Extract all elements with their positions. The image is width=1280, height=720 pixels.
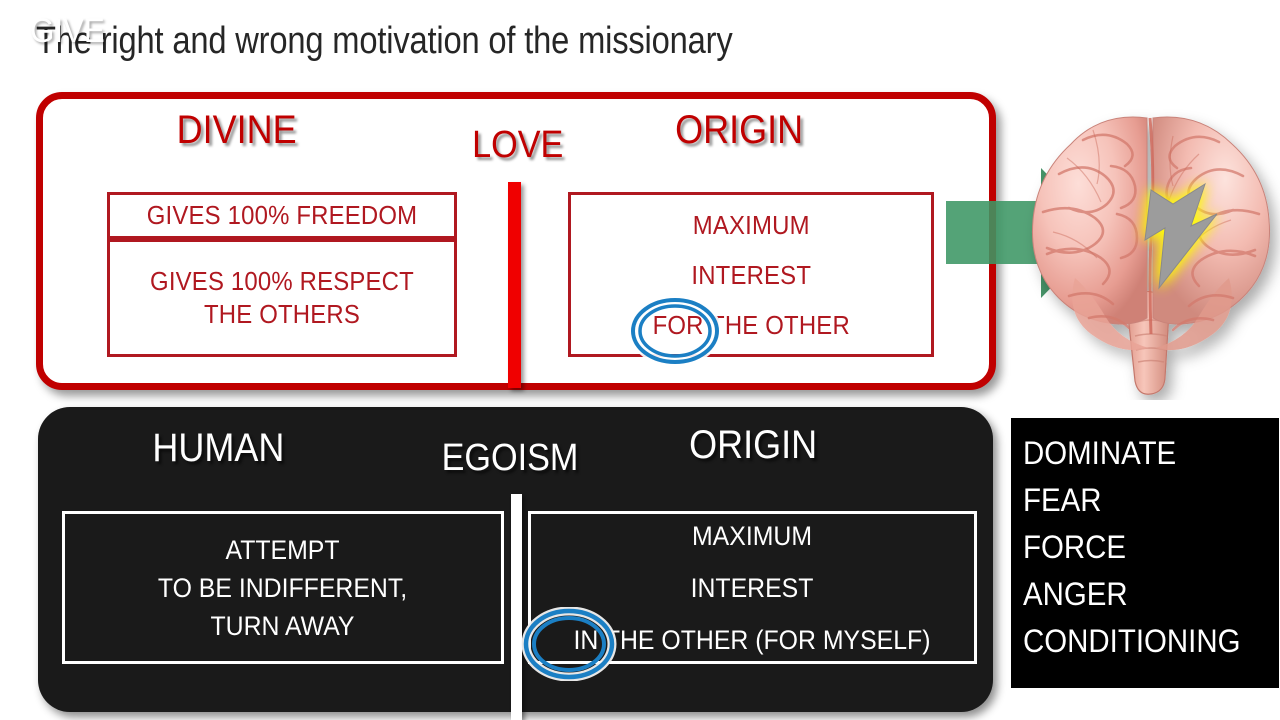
divine-box-freedom-label: GIVES 100% FREEDOM bbox=[147, 199, 418, 232]
list-item: DOMINATE bbox=[1023, 430, 1259, 477]
list-item: FORCE bbox=[1023, 524, 1259, 571]
divine-box-freedom: GIVES 100% FREEDOM bbox=[107, 192, 457, 239]
white-vertical-divider bbox=[511, 494, 522, 720]
human-box-maximum-text: MAXIMUM INTEREST IN THE OTHER (FOR MYSEL… bbox=[574, 510, 931, 666]
heading-origin-human: ORIGIN bbox=[689, 425, 817, 465]
heading-love: LOVE bbox=[472, 125, 563, 165]
human-right-line-1: MAXIMUM bbox=[692, 521, 812, 551]
page-title: The right and wrong motivation of the mi… bbox=[36, 18, 733, 64]
give-arrow-label: GIVE bbox=[30, 14, 105, 48]
human-right-line-3-rest: THE OTHER (FOR MYSELF) bbox=[605, 625, 931, 655]
divine-line-2: INTEREST bbox=[691, 260, 811, 290]
human-box-maximum-interest: MAXIMUM INTEREST IN THE OTHER (FOR MYSEL… bbox=[528, 511, 977, 664]
red-vertical-divider bbox=[508, 182, 521, 388]
divine-line-3-rest: THE OTHER bbox=[710, 310, 850, 340]
list-item: FEAR bbox=[1023, 477, 1259, 524]
divine-box-maximum-interest: MAXIMUM INTEREST FOR THE OTHER bbox=[568, 192, 934, 357]
human-left-line-1: ATTEMPT bbox=[226, 535, 340, 565]
brain-icon bbox=[1023, 100, 1280, 400]
human-right-line-2: INTEREST bbox=[691, 573, 814, 603]
human-box-attempt: ATTEMPT TO BE INDIFFERENT, TURN AWAY bbox=[62, 511, 504, 664]
slide-canvas: The right and wrong motivation of the mi… bbox=[0, 0, 1280, 720]
heading-egoism: EGOISM bbox=[442, 438, 579, 478]
human-left-line-2: TO BE INDIFFERENT, bbox=[158, 573, 407, 603]
heading-divine: DIVINE bbox=[177, 110, 297, 150]
list-item: CONDITIONING bbox=[1023, 618, 1259, 665]
list-item: ANGER bbox=[1023, 571, 1259, 618]
negative-traits-items: DOMINATE FEAR FORCE ANGER CONDITIONING bbox=[1023, 430, 1279, 665]
divine-line-1: MAXIMUM bbox=[693, 210, 810, 240]
divine-line-3-highlight: FOR bbox=[652, 310, 703, 340]
divine-box-respect: GIVES 100% RESPECT THE OTHERS bbox=[107, 239, 457, 357]
heading-origin-divine: ORIGIN bbox=[675, 110, 803, 150]
negative-traits-list: DOMINATE FEAR FORCE ANGER CONDITIONING bbox=[1011, 418, 1279, 688]
human-box-attempt-text: ATTEMPT TO BE INDIFFERENT, TURN AWAY bbox=[158, 531, 407, 645]
divine-box-maximum-text: MAXIMUM INTEREST FOR THE OTHER bbox=[652, 200, 849, 350]
heading-human: HUMAN bbox=[152, 428, 284, 468]
human-right-line-3-highlight: IN bbox=[574, 625, 599, 655]
human-left-line-3: TURN AWAY bbox=[211, 611, 355, 641]
divine-box-respect-label: GIVES 100% RESPECT THE OTHERS bbox=[129, 265, 434, 331]
